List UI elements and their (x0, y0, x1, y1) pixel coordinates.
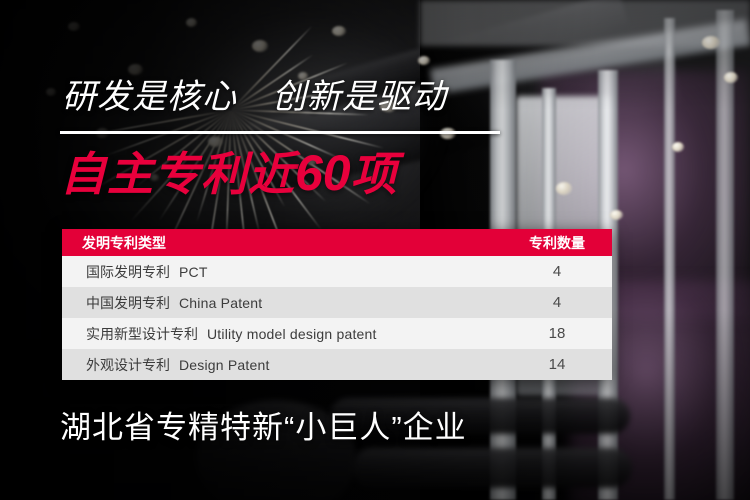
table-header-row: 发明专利类型 专利数量 (62, 229, 612, 256)
cell-patent-quantity: 4 (502, 256, 612, 287)
banner-stage: 研发是核心 创新是驱动 自主专利近60项 发明专利类型 专利数量 国际发明专利P… (0, 0, 750, 500)
table-row: 外观设计专利Design Patent 14 (62, 349, 612, 380)
cell-patent-type: 外观设计专利Design Patent (62, 349, 502, 380)
subheadline-prefix: 自主专利近 (60, 148, 295, 200)
subheadline-suffix: 项 (351, 148, 398, 200)
patent-type-en: Design Patent (179, 357, 270, 373)
cell-patent-type: 国际发明专利PCT (62, 256, 502, 287)
patent-table-body: 国际发明专利PCT 4 中国发明专利China Patent 4 实用新型设计专… (62, 256, 612, 380)
cell-patent-type: 实用新型设计专利Utility model design patent (62, 318, 502, 349)
table-row: 中国发明专利China Patent 4 (62, 287, 612, 318)
cell-patent-type: 中国发明专利China Patent (62, 287, 502, 318)
footer-tagline: 湖北省专精特新“小巨人”企业 (60, 402, 467, 447)
patent-type-cn: 实用新型设计专利 (86, 326, 198, 342)
headline-divider (60, 131, 500, 134)
patent-type-cn: 外观设计专利 (86, 357, 170, 373)
cell-patent-quantity: 14 (502, 349, 612, 380)
headline-right-text: 创新是驱动 (272, 78, 447, 116)
patent-type-cn: 国际发明专利 (86, 264, 170, 280)
headline: 研发是核心 创新是驱动 (62, 80, 447, 114)
column-header-quantity: 专利数量 (502, 229, 612, 256)
patent-table: 发明专利类型 专利数量 国际发明专利PCT 4 中国发明专利China Pate… (62, 229, 612, 380)
cell-patent-quantity: 18 (502, 318, 612, 349)
patent-type-en: China Patent (179, 295, 262, 311)
patent-table-head: 发明专利类型 专利数量 (62, 229, 612, 256)
table-row: 国际发明专利PCT 4 (62, 256, 612, 287)
subheadline: 自主专利近60项 (60, 146, 398, 201)
headline-left-text: 研发是核心 (62, 78, 237, 116)
patent-type-en: PCT (179, 264, 208, 280)
banner-content: 研发是核心 创新是驱动 自主专利近60项 发明专利类型 专利数量 国际发明专利P… (0, 0, 750, 500)
patent-type-en: Utility model design patent (207, 326, 377, 342)
patent-type-cn: 中国发明专利 (86, 295, 170, 311)
column-header-type: 发明专利类型 (62, 229, 502, 256)
cell-patent-quantity: 4 (502, 287, 612, 318)
subheadline-number: 60 (295, 145, 351, 201)
table-row: 实用新型设计专利Utility model design patent 18 (62, 318, 612, 349)
